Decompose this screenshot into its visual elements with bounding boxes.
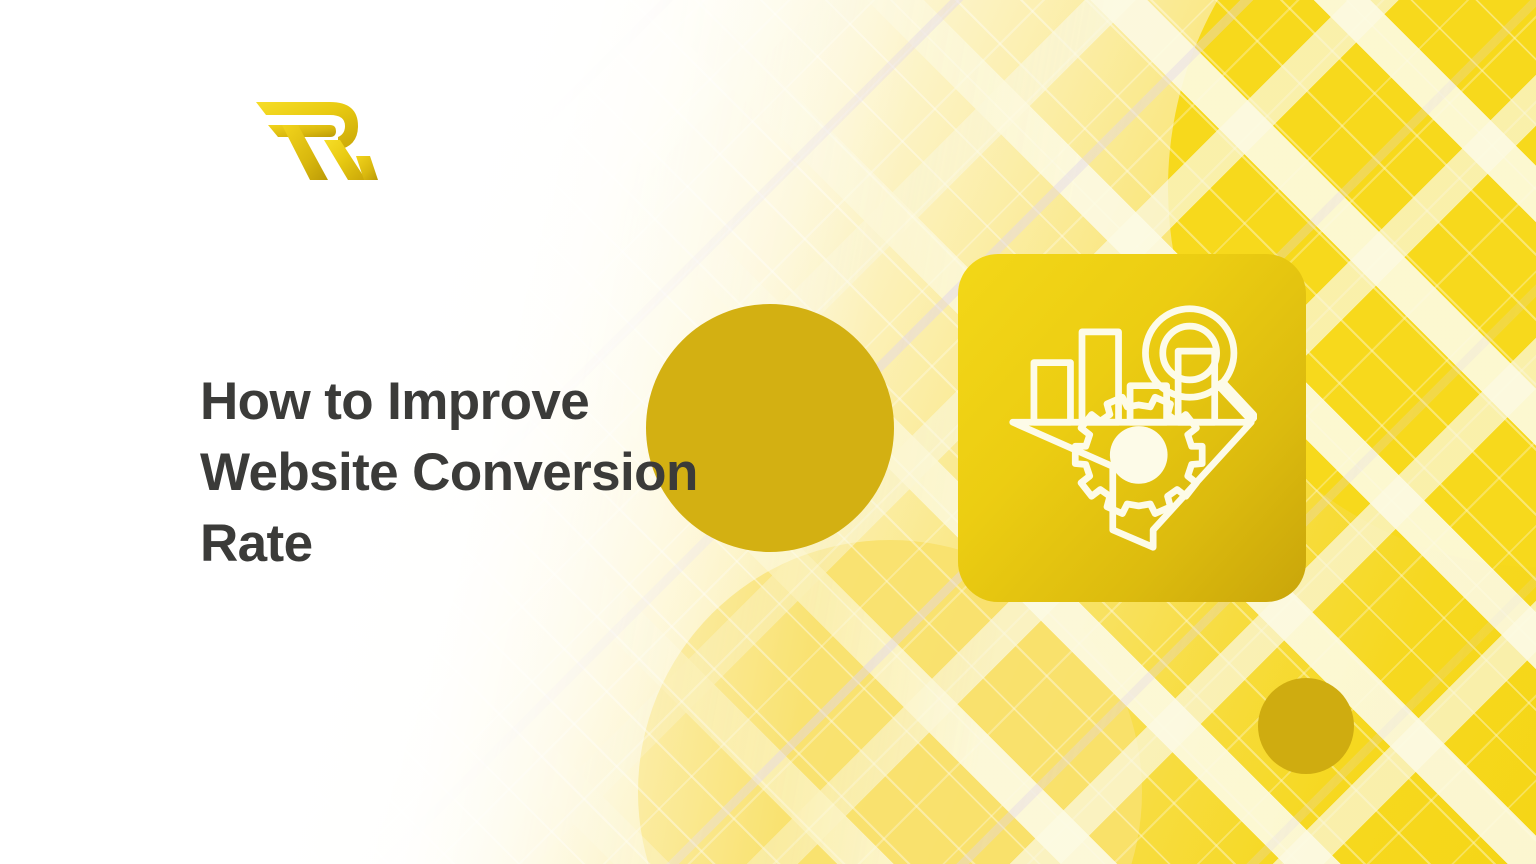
bar-4 <box>1178 351 1215 422</box>
magnifier-handle <box>1222 386 1251 417</box>
conversion-funnel-icon-card <box>958 254 1306 602</box>
r-monogram-logo <box>252 88 392 188</box>
banner-root: How to Improve Website Conversion Rate <box>0 0 1536 864</box>
page-title: How to Improve Website Conversion Rate <box>200 366 840 579</box>
bar-1 <box>1034 363 1071 423</box>
gold-disc-small <box>1258 678 1354 774</box>
gear-hub <box>1110 426 1168 484</box>
bar-2 <box>1082 332 1119 422</box>
